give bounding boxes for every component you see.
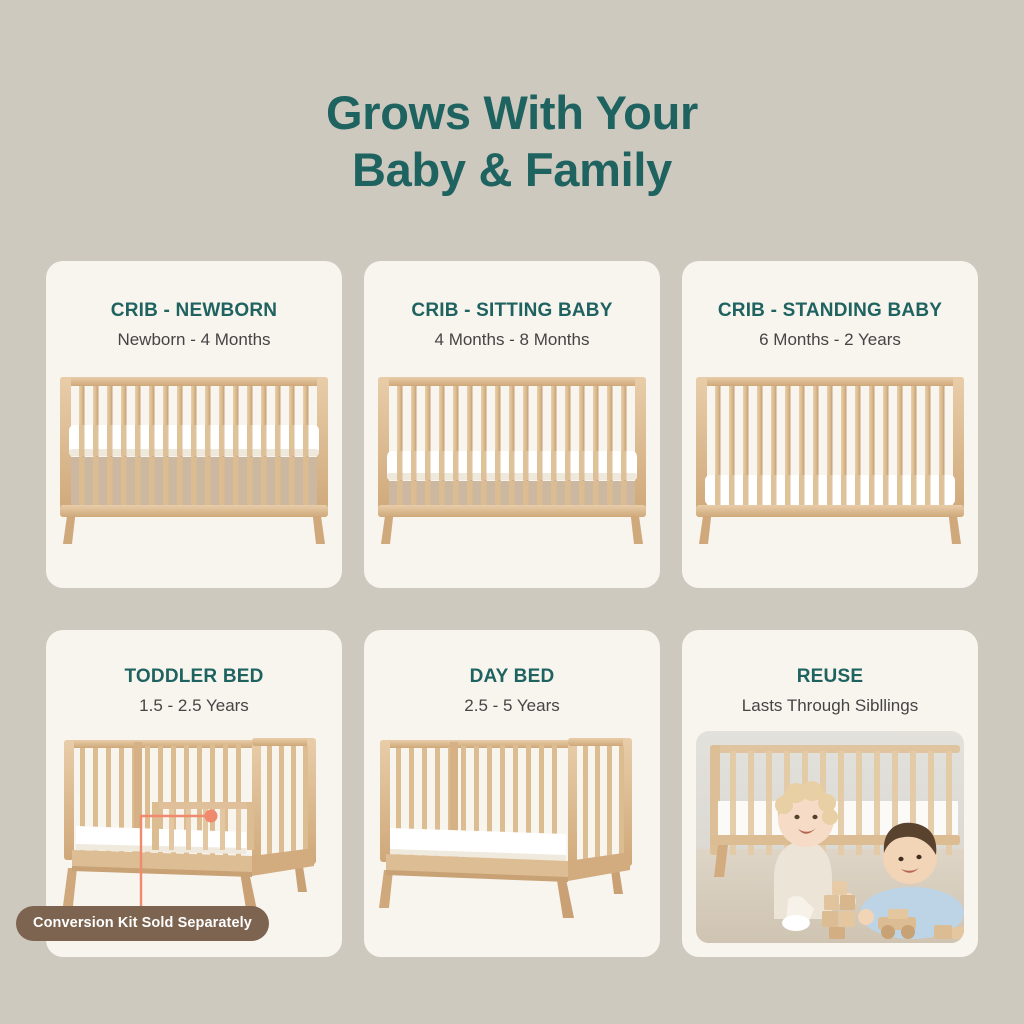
stage-card-subtitle: 4 Months - 8 Months (364, 330, 660, 350)
stage-card-subtitle: Lasts Through Sibllings (682, 696, 978, 716)
page-title-line2: Baby & Family (0, 141, 1024, 198)
page-title: Grows With Your Baby & Family (0, 84, 1024, 198)
lifestyle-photo-two-toddlers (696, 731, 964, 943)
stage-card-subtitle: Newborn - 4 Months (46, 330, 342, 350)
day-bed-illustration (364, 730, 660, 945)
stage-card-title: DAY BED (364, 666, 660, 688)
stage-card-subtitle: 6 Months - 2 Years (682, 330, 978, 350)
conversion-kit-badge: Conversion Kit Sold Separately (16, 906, 269, 941)
crib-illustration-sitting-baby (364, 369, 660, 569)
stage-card-subtitle: 1.5 - 2.5 Years (46, 696, 342, 716)
stage-card-day-bed[interactable]: DAY BED 2.5 - 5 Years (364, 630, 660, 957)
stage-card-crib-sitting-baby[interactable]: CRIB - SITTING BABY 4 Months - 8 Months (364, 261, 660, 588)
promo-infographic: Grows With Your Baby & Family CRIB - NEW… (0, 0, 1024, 1024)
stage-card-subtitle: 2.5 - 5 Years (364, 696, 660, 716)
stage-card-title: CRIB - SITTING BABY (364, 300, 660, 322)
crib-illustration-newborn (46, 369, 342, 569)
stage-card-crib-newborn[interactable]: CRIB - NEWBORN Newborn - 4 Months (46, 261, 342, 588)
stage-card-title: TODDLER BED (46, 666, 342, 688)
stage-card-grid: CRIB - NEWBORN Newborn - 4 Months (46, 261, 978, 957)
stage-card-crib-standing-baby[interactable]: CRIB - STANDING BABY 6 Months - 2 Years (682, 261, 978, 588)
stage-card-reuse[interactable]: REUSE Lasts Through Sibllings (682, 630, 978, 957)
stage-card-title: CRIB - STANDING BABY (682, 300, 978, 322)
page-title-line1: Grows With Your (0, 84, 1024, 141)
crib-illustration-standing-baby (682, 369, 978, 569)
stage-card-title: CRIB - NEWBORN (46, 300, 342, 322)
stage-card-title: REUSE (682, 666, 978, 688)
